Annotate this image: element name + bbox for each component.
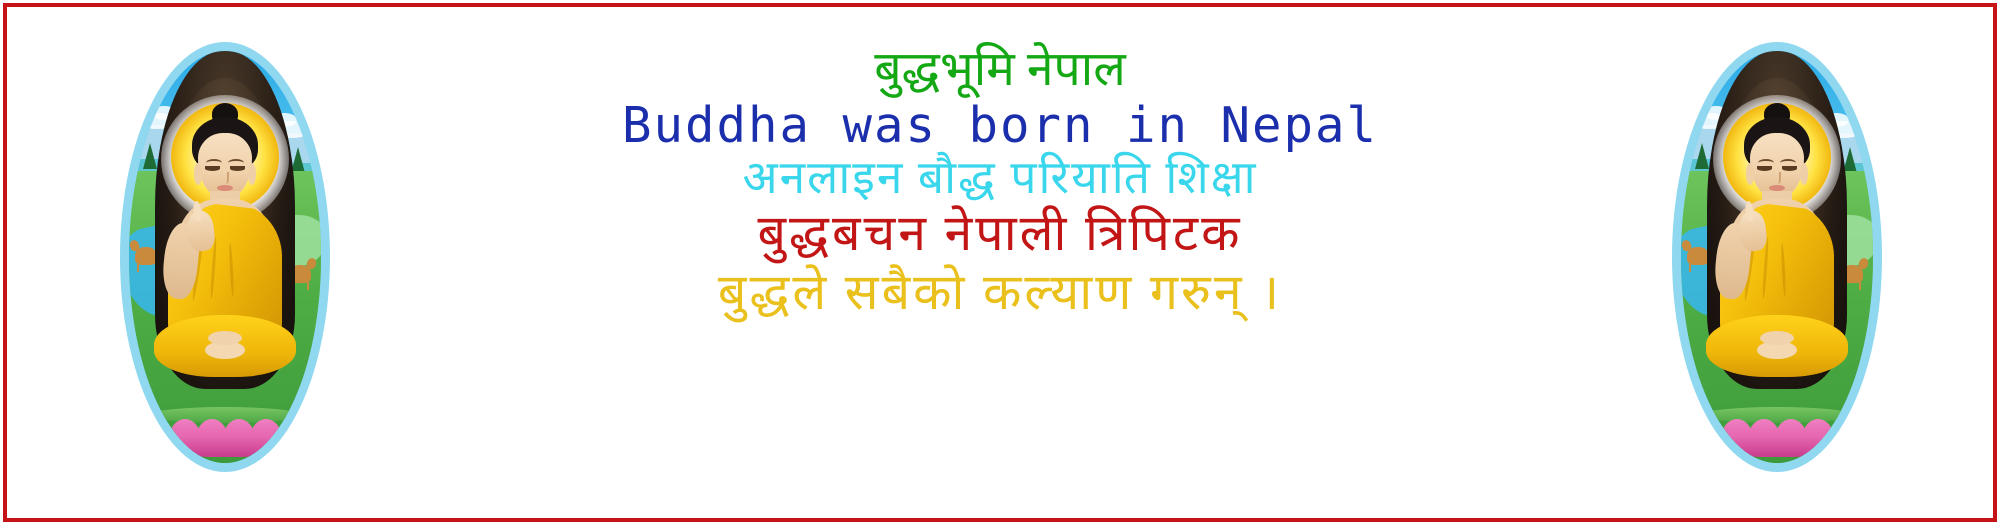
subtitle-education: अनलाइन बौद्ध परियाति शिक्षा [330, 155, 1670, 202]
title-english: Buddha was born in Nepal [330, 101, 1670, 151]
eye-icon [230, 166, 245, 171]
ear-icon [194, 163, 202, 185]
buddhabhumi-nepal-banner: बुद्धभूमि नेपाल Buddha was born in Nepal… [0, 0, 2000, 525]
eye-icon [1757, 166, 1772, 171]
lotus-throne [1693, 411, 1861, 457]
ear-icon [1800, 163, 1808, 185]
lotus-base [141, 435, 309, 457]
subtitle-tripitaka: बुद्धबचन नेपाली त्रिपिटक [330, 208, 1670, 259]
title-nepali: बुद्धभूमि नेपाल [330, 46, 1670, 95]
ear-icon [248, 163, 256, 185]
blessing-line: बुद्धले सबैको कल्याण गरुन् । [330, 267, 1670, 318]
eye-icon [1782, 166, 1797, 171]
lotus-leaves [149, 407, 301, 423]
buddha-oval-illustration-right [1672, 42, 1882, 472]
face [198, 133, 252, 199]
buddha-figure [1702, 107, 1852, 407]
resting-hand [208, 331, 242, 345]
lotus-throne [141, 411, 309, 457]
resting-hand [1760, 331, 1794, 345]
buddha-figure [150, 107, 300, 407]
buddha-oval-illustration-left [120, 42, 330, 472]
ear-icon [1746, 163, 1754, 185]
face [1750, 133, 1804, 199]
lotus-leaves [1701, 407, 1853, 423]
eye-icon [205, 166, 220, 171]
banner-text-block: बुद्धभूमि नेपाल Buddha was born in Nepal… [330, 46, 1670, 318]
nose-icon [221, 172, 229, 184]
lotus-base [1693, 435, 1861, 457]
nose-icon [1773, 172, 1781, 184]
oval-scene-right [1681, 51, 1873, 463]
oval-scene-left [129, 51, 321, 463]
